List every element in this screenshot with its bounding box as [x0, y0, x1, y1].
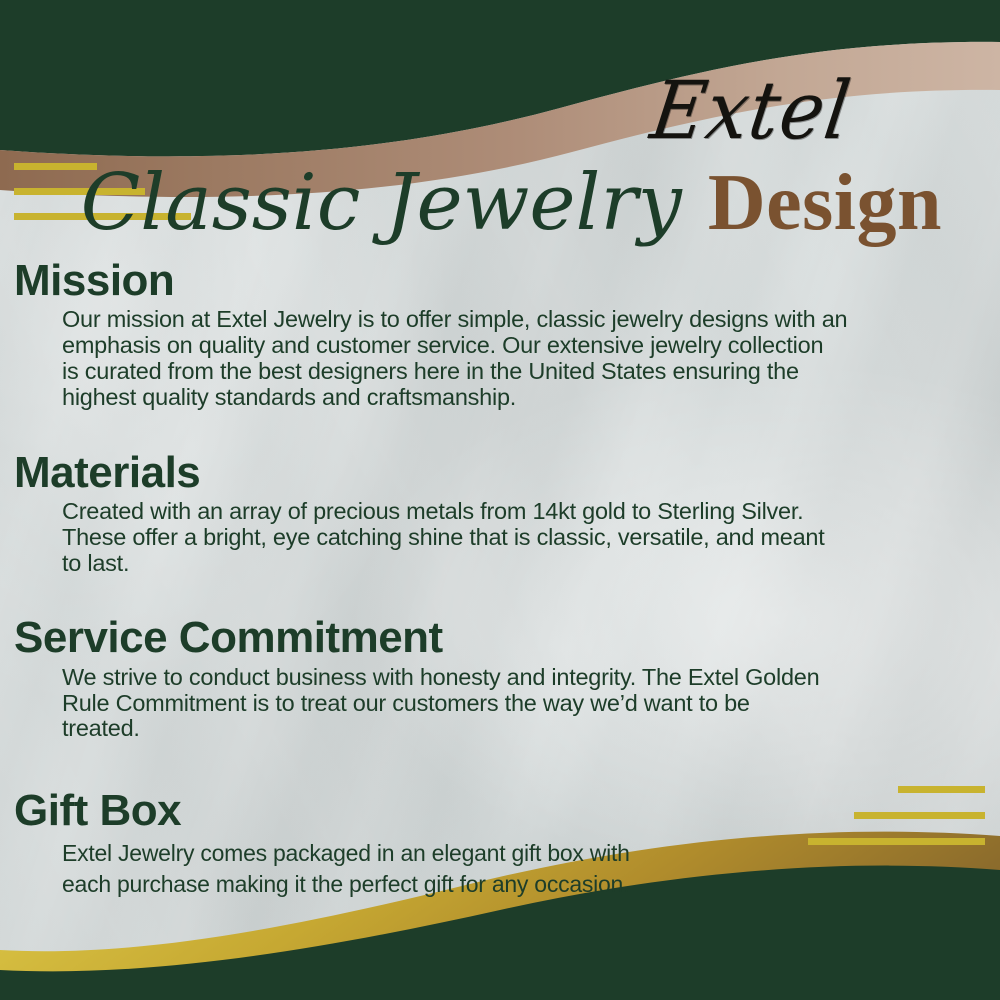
body-line: Created with an array of precious metals…: [62, 499, 974, 525]
section-service-commitment: Service Commitment We strive to conduct …: [0, 613, 1000, 742]
body-line: each purchase making it the perfect gift…: [62, 869, 974, 901]
section-body-service-commitment: We strive to conduct business with hones…: [62, 665, 974, 743]
section-heading-materials: Materials: [14, 448, 1000, 497]
section-materials: Materials Created with an array of preci…: [0, 448, 1000, 577]
section-heading-service-commitment: Service Commitment: [14, 613, 1000, 662]
brand-script-logo: Extel: [646, 71, 855, 151]
poster-canvas: Extel Classic Jewelry Design Mission Our…: [0, 0, 1000, 1000]
body-line: These offer a bright, eye catching shine…: [62, 525, 974, 551]
body-line: to last.: [62, 551, 974, 577]
section-heading-mission: Mission: [14, 256, 1000, 305]
body-line: We strive to conduct business with hones…: [62, 665, 974, 691]
section-body-mission: Our mission at Extel Jewelry is to offer…: [62, 307, 974, 410]
accent-line-long: [808, 838, 985, 845]
bottom-right-accent-lines: [808, 786, 985, 845]
accent-line-medium: [854, 812, 985, 819]
page-title: Classic Jewelry Design: [0, 155, 1000, 250]
section-body-gift-box: Extel Jewelry comes packaged in an elega…: [62, 838, 974, 901]
page-title-classic-jewelry: Classic Jewelry: [81, 164, 682, 242]
body-line: Our mission at Extel Jewelry is to offer…: [62, 307, 974, 333]
body-line: is curated from the best designers here …: [62, 359, 974, 385]
body-line: treated.: [62, 716, 974, 742]
body-line: emphasis on quality and customer service…: [62, 333, 974, 359]
accent-line-short: [898, 786, 985, 793]
section-body-materials: Created with an array of precious metals…: [62, 499, 974, 577]
page-title-design: Design: [708, 163, 942, 243]
section-mission: Mission Our mission at Extel Jewelry is …: [0, 256, 1000, 411]
body-line: Rule Commitment is to treat our customer…: [62, 691, 974, 717]
body-line: highest quality standards and craftsmans…: [62, 385, 974, 411]
